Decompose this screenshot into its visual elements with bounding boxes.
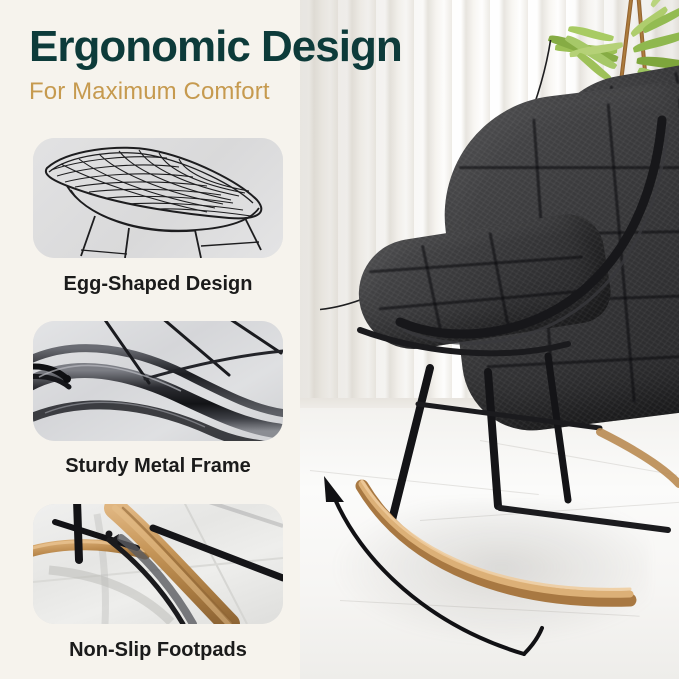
rocking-motion-arrow xyxy=(300,440,679,679)
page-title: Ergonomic Design xyxy=(29,24,509,70)
footpad-closeup xyxy=(33,504,283,624)
feature-card-sturdy-metal-frame: Sturdy Metal Frame xyxy=(33,321,283,476)
feature-card-label: Sturdy Metal Frame xyxy=(33,456,283,476)
feature-card-egg-shaped-design: Egg-Shaped Design xyxy=(33,138,283,294)
metal-frame-closeup xyxy=(33,321,283,441)
feature-card-label: Non-Slip Footpads xyxy=(33,640,283,660)
feature-card-non-slip-footpads: Non-Slip Footpads xyxy=(33,504,283,660)
feature-card-list: Egg-Shaped Design xyxy=(33,138,283,660)
wireframe-chair-illustration xyxy=(33,138,283,258)
product-feature-poster: Ergonomic Design For Maximum Comfort xyxy=(0,0,679,679)
feature-card-label: Egg-Shaped Design xyxy=(33,274,283,294)
page-subtitle: For Maximum Comfort xyxy=(29,79,509,105)
headline-block: Ergonomic Design For Maximum Comfort xyxy=(29,24,509,106)
